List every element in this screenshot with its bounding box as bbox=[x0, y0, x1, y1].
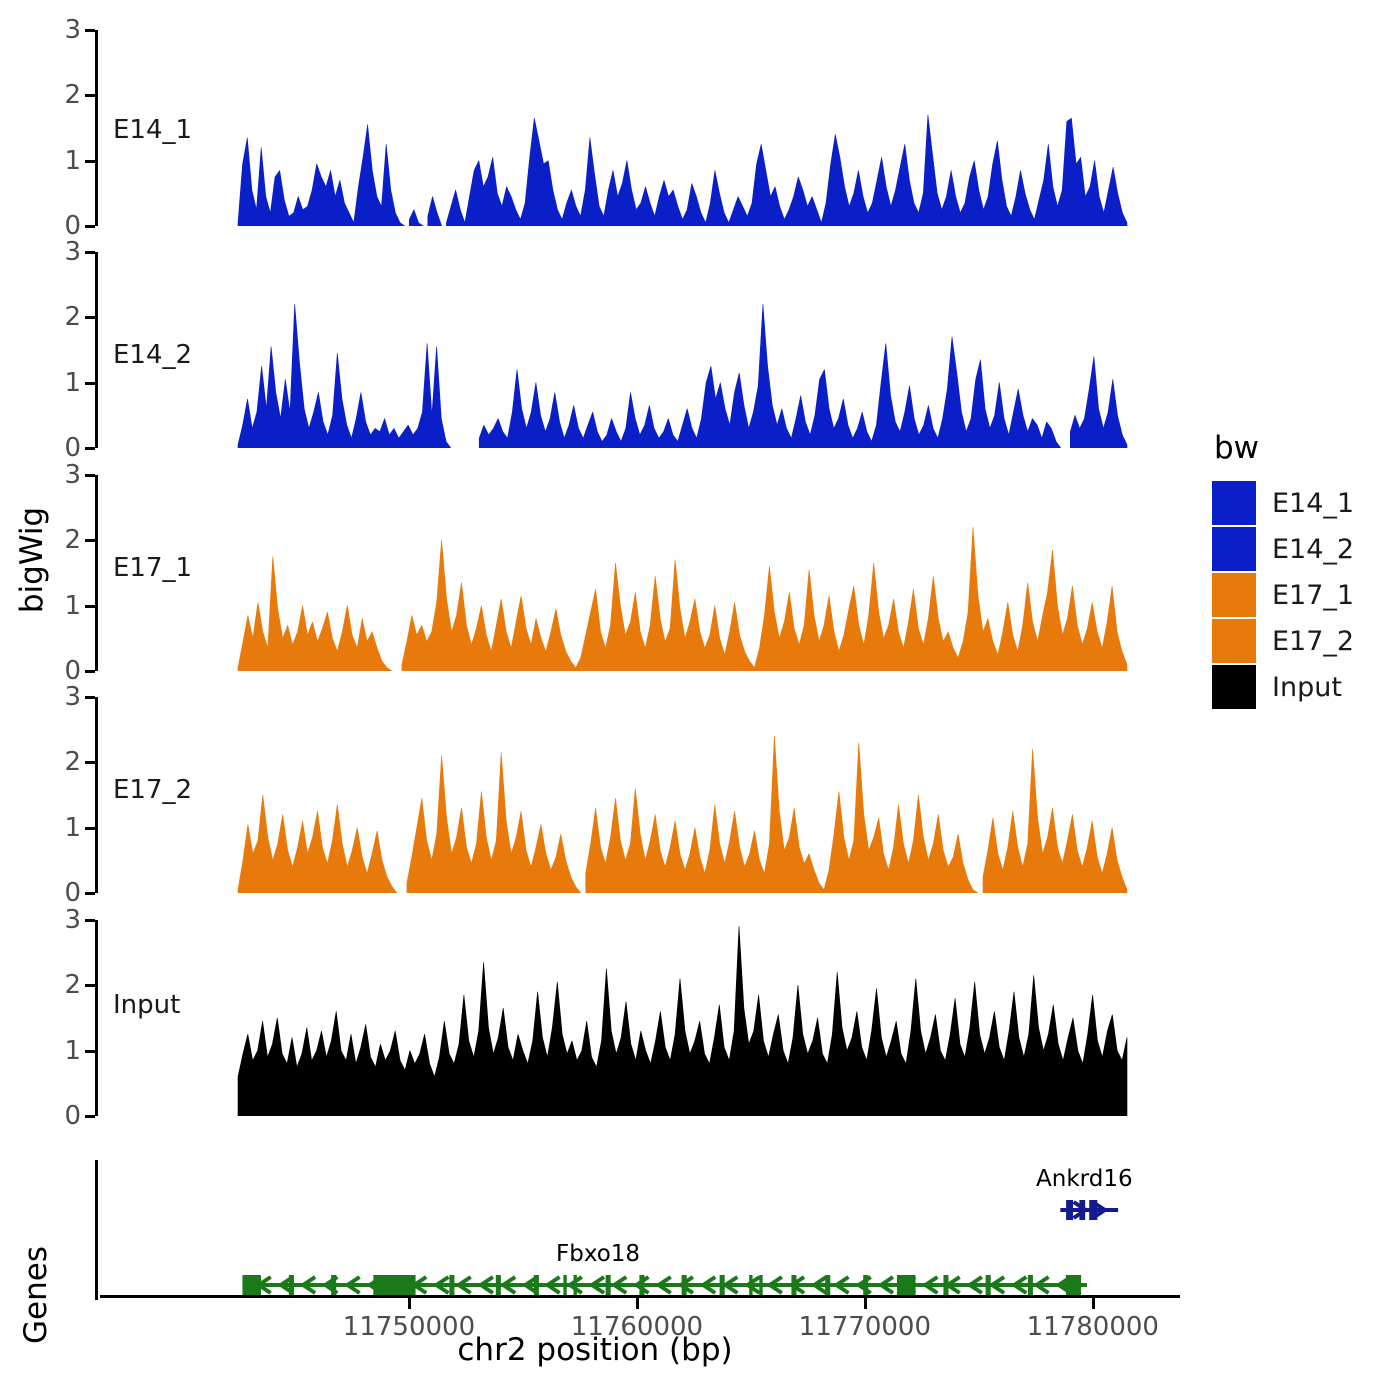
y-tick bbox=[85, 761, 95, 764]
y-tick-label: 0 bbox=[64, 658, 81, 684]
panel-e14_2: 3210E14_2 bbox=[95, 252, 1195, 448]
panel-e17_1: 3210E17_1 bbox=[95, 475, 1195, 671]
y-tick-label: 1 bbox=[64, 815, 81, 841]
legend-item-e17_1[interactable]: E17_1 bbox=[1212, 572, 1354, 618]
y-tick-label: 3 bbox=[64, 462, 81, 488]
legend-item-e14_1[interactable]: E14_1 bbox=[1212, 480, 1354, 526]
y-tick bbox=[85, 696, 95, 699]
y-tick-label: 2 bbox=[64, 82, 81, 108]
gene-model-ankrd16 bbox=[1060, 1200, 1118, 1220]
y-tick-label: 3 bbox=[64, 684, 81, 710]
y-tick-label: 3 bbox=[64, 239, 81, 265]
x-tick bbox=[1092, 1298, 1095, 1309]
x-tick-label: 11770000 bbox=[799, 1312, 931, 1342]
y-tick-label: 3 bbox=[64, 907, 81, 933]
y-tick bbox=[85, 29, 95, 32]
signal-area-e17_1 bbox=[98, 475, 1195, 671]
y-tick bbox=[85, 670, 95, 673]
y-tick bbox=[85, 1050, 95, 1053]
x-tick bbox=[864, 1298, 867, 1309]
x-tick bbox=[408, 1298, 411, 1309]
y-tick bbox=[85, 316, 95, 319]
y-tick-label: 0 bbox=[64, 435, 81, 461]
legend-swatch bbox=[1212, 619, 1256, 663]
y-tick bbox=[85, 919, 95, 922]
y-tick bbox=[85, 827, 95, 830]
y-tick-label: 1 bbox=[64, 593, 81, 619]
y-tick-label: 2 bbox=[64, 749, 81, 775]
x-tick-label: 11780000 bbox=[1027, 1312, 1159, 1342]
legend-items: E14_1E14_2E17_1E17_2Input bbox=[1212, 480, 1354, 710]
y-tick bbox=[85, 447, 95, 450]
legend-label: E14_1 bbox=[1272, 488, 1354, 519]
panel-e14_1: 3210E14_1 bbox=[95, 30, 1195, 226]
y-tick bbox=[85, 1115, 95, 1118]
y-tick-label: 0 bbox=[64, 213, 81, 239]
legend: bw E14_1E14_2E17_1E17_2Input bbox=[1212, 430, 1354, 710]
signal-area-input bbox=[98, 920, 1195, 1116]
y-tick-label: 1 bbox=[64, 370, 81, 396]
y-tick-label: 0 bbox=[64, 1103, 81, 1129]
signal-area-e14_1 bbox=[98, 30, 1195, 226]
legend-item-e17_2[interactable]: E17_2 bbox=[1212, 618, 1354, 664]
y-tick bbox=[85, 382, 95, 385]
legend-title: bw bbox=[1214, 430, 1354, 466]
y-tick bbox=[85, 160, 95, 163]
legend-label: E17_1 bbox=[1272, 580, 1354, 611]
x-tick-label: 11760000 bbox=[571, 1312, 703, 1342]
panel-e17_2: 3210E17_2 bbox=[95, 697, 1195, 893]
gene-model-fbxo18 bbox=[242, 1275, 1087, 1295]
y-tick-label: 2 bbox=[64, 527, 81, 553]
gene-label-ankrd16: Ankrd16 bbox=[1036, 1166, 1133, 1192]
legend-label: Input bbox=[1272, 672, 1342, 703]
y-axis-title: bigWig bbox=[14, 460, 50, 660]
genome-browser-plot: bigWig Genes chr2 position (bp) 3210E14_… bbox=[0, 0, 1400, 1400]
y-tick bbox=[85, 539, 95, 542]
y-tick bbox=[85, 251, 95, 254]
panel-input: 3210Input bbox=[95, 920, 1195, 1116]
legend-swatch bbox=[1212, 573, 1256, 617]
legend-item-input[interactable]: Input bbox=[1212, 664, 1354, 710]
legend-swatch bbox=[1212, 481, 1256, 525]
legend-swatch bbox=[1212, 665, 1256, 709]
y-tick bbox=[85, 984, 95, 987]
y-tick-label: 0 bbox=[64, 880, 81, 906]
gene-label-fbxo18: Fbxo18 bbox=[556, 1241, 640, 1267]
legend-item-e14_2[interactable]: E14_2 bbox=[1212, 526, 1354, 572]
signal-area-e17_2 bbox=[98, 697, 1195, 893]
legend-label: E14_2 bbox=[1272, 534, 1354, 565]
y-tick bbox=[85, 892, 95, 895]
x-axis-line bbox=[100, 1295, 1180, 1298]
legend-swatch bbox=[1212, 527, 1256, 571]
genes-track bbox=[98, 1160, 1198, 1305]
x-tick bbox=[636, 1298, 639, 1309]
y-tick bbox=[85, 94, 95, 97]
y-tick-label: 3 bbox=[64, 17, 81, 43]
y-tick bbox=[85, 474, 95, 477]
y-tick bbox=[85, 605, 95, 608]
x-tick-label: 11750000 bbox=[343, 1312, 475, 1342]
y-tick-label: 2 bbox=[64, 972, 81, 998]
signal-area-e14_2 bbox=[98, 252, 1195, 448]
legend-label: E17_2 bbox=[1272, 626, 1354, 657]
y-tick-label: 1 bbox=[64, 1038, 81, 1064]
y-tick bbox=[85, 225, 95, 228]
y-tick-label: 1 bbox=[64, 148, 81, 174]
y-tick-label: 2 bbox=[64, 304, 81, 330]
